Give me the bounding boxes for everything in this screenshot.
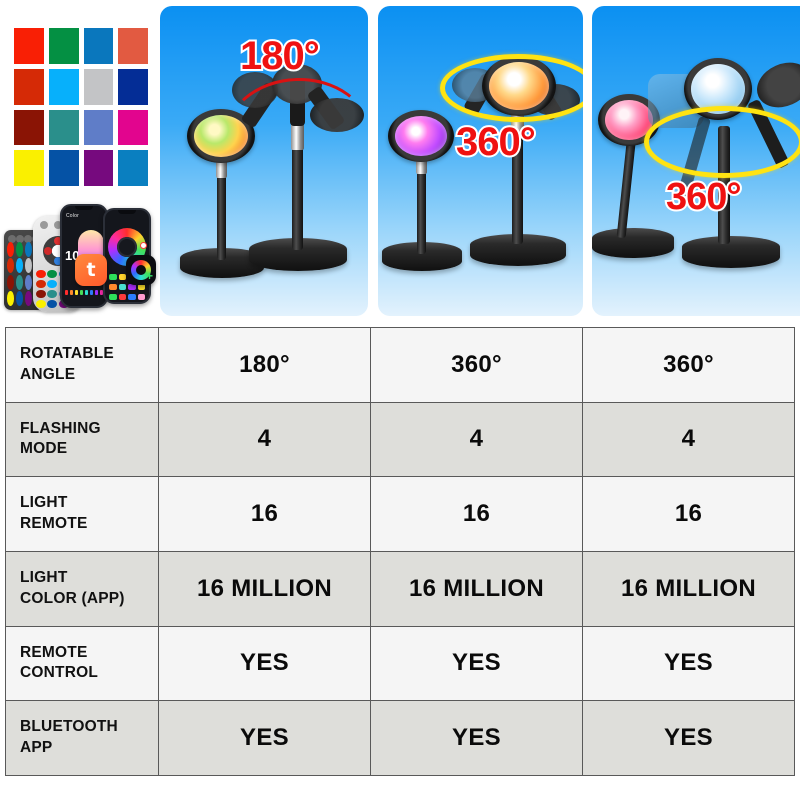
- remote-color-button: [36, 290, 46, 298]
- spec-value: 4: [371, 402, 583, 477]
- remote-color-button: [47, 270, 57, 278]
- spec-label-line: FLASHING: [20, 419, 144, 440]
- phone-notch: [75, 206, 93, 210]
- spec-label-line: REMOTE: [20, 514, 144, 535]
- remote-color-button: [47, 300, 57, 308]
- color-swatch: [49, 110, 79, 146]
- remote-color-button: [7, 291, 14, 306]
- remote-color-button: [47, 280, 57, 288]
- spec-label: FLASHINGMODE: [6, 402, 159, 477]
- panel-180: 180°: [160, 6, 368, 316]
- remote-color-button: [25, 275, 32, 290]
- app-color-label: Color: [66, 213, 79, 219]
- spec-label: LIGHTCOLOR (APP): [6, 551, 159, 626]
- color-swatch: [49, 150, 79, 186]
- spec-label-line: ROTATABLE: [20, 344, 144, 365]
- table-row: BLUETOOTHAPPYESYESYES: [6, 701, 795, 776]
- accessories-collage: Color 100: [0, 196, 158, 318]
- spec-value: 360°: [583, 328, 795, 403]
- top-imagery-area: Color 100: [0, 0, 800, 322]
- table-row: LIGHTREMOTE161616: [6, 477, 795, 552]
- remote-color-button: [16, 242, 23, 257]
- spec-label-line: MODE: [20, 439, 144, 460]
- spec-label-line: COLOR (APP): [20, 589, 144, 610]
- product-comparison-infographic: Color 100: [0, 0, 800, 800]
- spec-value: 16 MILLION: [371, 551, 583, 626]
- remote-color-button: [36, 270, 46, 278]
- lamp-head: [388, 110, 454, 162]
- app-color-wheel-handle: [140, 242, 147, 249]
- table-row: REMOTECONTROLYESYESYES: [6, 626, 795, 701]
- remote-color-button: [16, 258, 23, 273]
- lamp-lens-purple: [395, 116, 447, 156]
- spec-label: LIGHTREMOTE: [6, 477, 159, 552]
- table-body: ROTATABLEANGLE180°360°360°FLASHINGMODE44…: [6, 328, 795, 776]
- light-color-swatch-grid: [14, 28, 148, 186]
- remote-color-button: [7, 275, 14, 290]
- app-palette-strip: [65, 290, 103, 295]
- color-swatch: [14, 150, 44, 186]
- spec-value: YES: [159, 626, 371, 701]
- spec-label-line: LIGHT: [20, 568, 144, 589]
- remote-color-button: [16, 291, 23, 306]
- table-row: ROTATABLEANGLE180°360°360°: [6, 328, 795, 403]
- remote-color-button: [7, 242, 14, 257]
- tuya-app-icon: t: [75, 254, 107, 286]
- remote-color-button: [7, 258, 14, 273]
- lamp-gooseneck: [617, 134, 637, 238]
- spec-value: 16: [583, 477, 795, 552]
- specification-comparison-table: ROTATABLEANGLE180°360°360°FLASHINGMODE44…: [5, 327, 795, 776]
- spec-value: YES: [583, 701, 795, 776]
- spec-value: 16 MILLION: [583, 551, 795, 626]
- spec-value: YES: [371, 626, 583, 701]
- color-swatch: [49, 28, 79, 64]
- spec-value: YES: [159, 701, 371, 776]
- lamp-pole: [217, 174, 226, 260]
- color-swatch: [118, 110, 148, 146]
- app-scene-row: [109, 294, 145, 300]
- spec-label: REMOTECONTROL: [6, 626, 159, 701]
- spec-value: YES: [583, 626, 795, 701]
- spec-value: 16: [159, 477, 371, 552]
- spec-value: 4: [159, 402, 371, 477]
- phone-notch: [118, 210, 136, 214]
- spec-label-line: BLUETOOTH: [20, 717, 144, 738]
- color-swatch: [84, 150, 114, 186]
- remote-color-button: [16, 275, 23, 290]
- color-swatch: [84, 110, 114, 146]
- spec-label: ROTATABLEANGLE: [6, 328, 159, 403]
- smart-life-app-icon: +: [126, 255, 156, 285]
- rotation-ring-360: [644, 106, 800, 178]
- remote-color-button: [47, 290, 57, 298]
- spec-value: 16: [371, 477, 583, 552]
- remote-color-button: [25, 291, 32, 306]
- badge-angle-360-a: 360°: [456, 120, 535, 165]
- spec-value: 4: [583, 402, 795, 477]
- color-swatch: [118, 69, 148, 105]
- remote-color-button: [25, 258, 32, 273]
- table-row: LIGHTCOLOR (APP)16 MILLION16 MILLION16 M…: [6, 551, 795, 626]
- color-swatch: [118, 150, 148, 186]
- spec-value: 180°: [159, 328, 371, 403]
- lamp-base: [682, 236, 780, 268]
- badge-angle-360-b: 360°: [666, 176, 741, 219]
- panel-360-a: 360°: [378, 6, 583, 316]
- color-swatch: [14, 110, 44, 146]
- rotation-ring-360: [440, 54, 583, 122]
- color-swatch: [84, 69, 114, 105]
- color-swatch: [14, 69, 44, 105]
- spec-label-line: REMOTE: [20, 643, 144, 664]
- remote-color-button: [36, 280, 46, 288]
- spec-label-line: LIGHT: [20, 493, 144, 514]
- table-row: FLASHINGMODE444: [6, 402, 795, 477]
- color-swatch: [84, 28, 114, 64]
- spec-label-line: ANGLE: [20, 365, 144, 386]
- lamp-base: [592, 228, 674, 258]
- spec-label: BLUETOOTHAPP: [6, 701, 159, 776]
- badge-angle-180: 180°: [240, 34, 319, 79]
- lamp-pole: [417, 170, 426, 254]
- color-swatch: [14, 28, 44, 64]
- panel-360-b: 360°: [592, 6, 800, 316]
- color-swatch: [49, 69, 79, 105]
- spec-value: 360°: [371, 328, 583, 403]
- remote-color-button: [25, 242, 32, 257]
- spec-value: 16 MILLION: [159, 551, 371, 626]
- color-swatch: [118, 28, 148, 64]
- spec-label-line: CONTROL: [20, 663, 144, 684]
- remote-color-button: [36, 300, 46, 308]
- app-icon-plus: +: [146, 270, 153, 282]
- spec-value: YES: [371, 701, 583, 776]
- spec-label-line: APP: [20, 738, 144, 759]
